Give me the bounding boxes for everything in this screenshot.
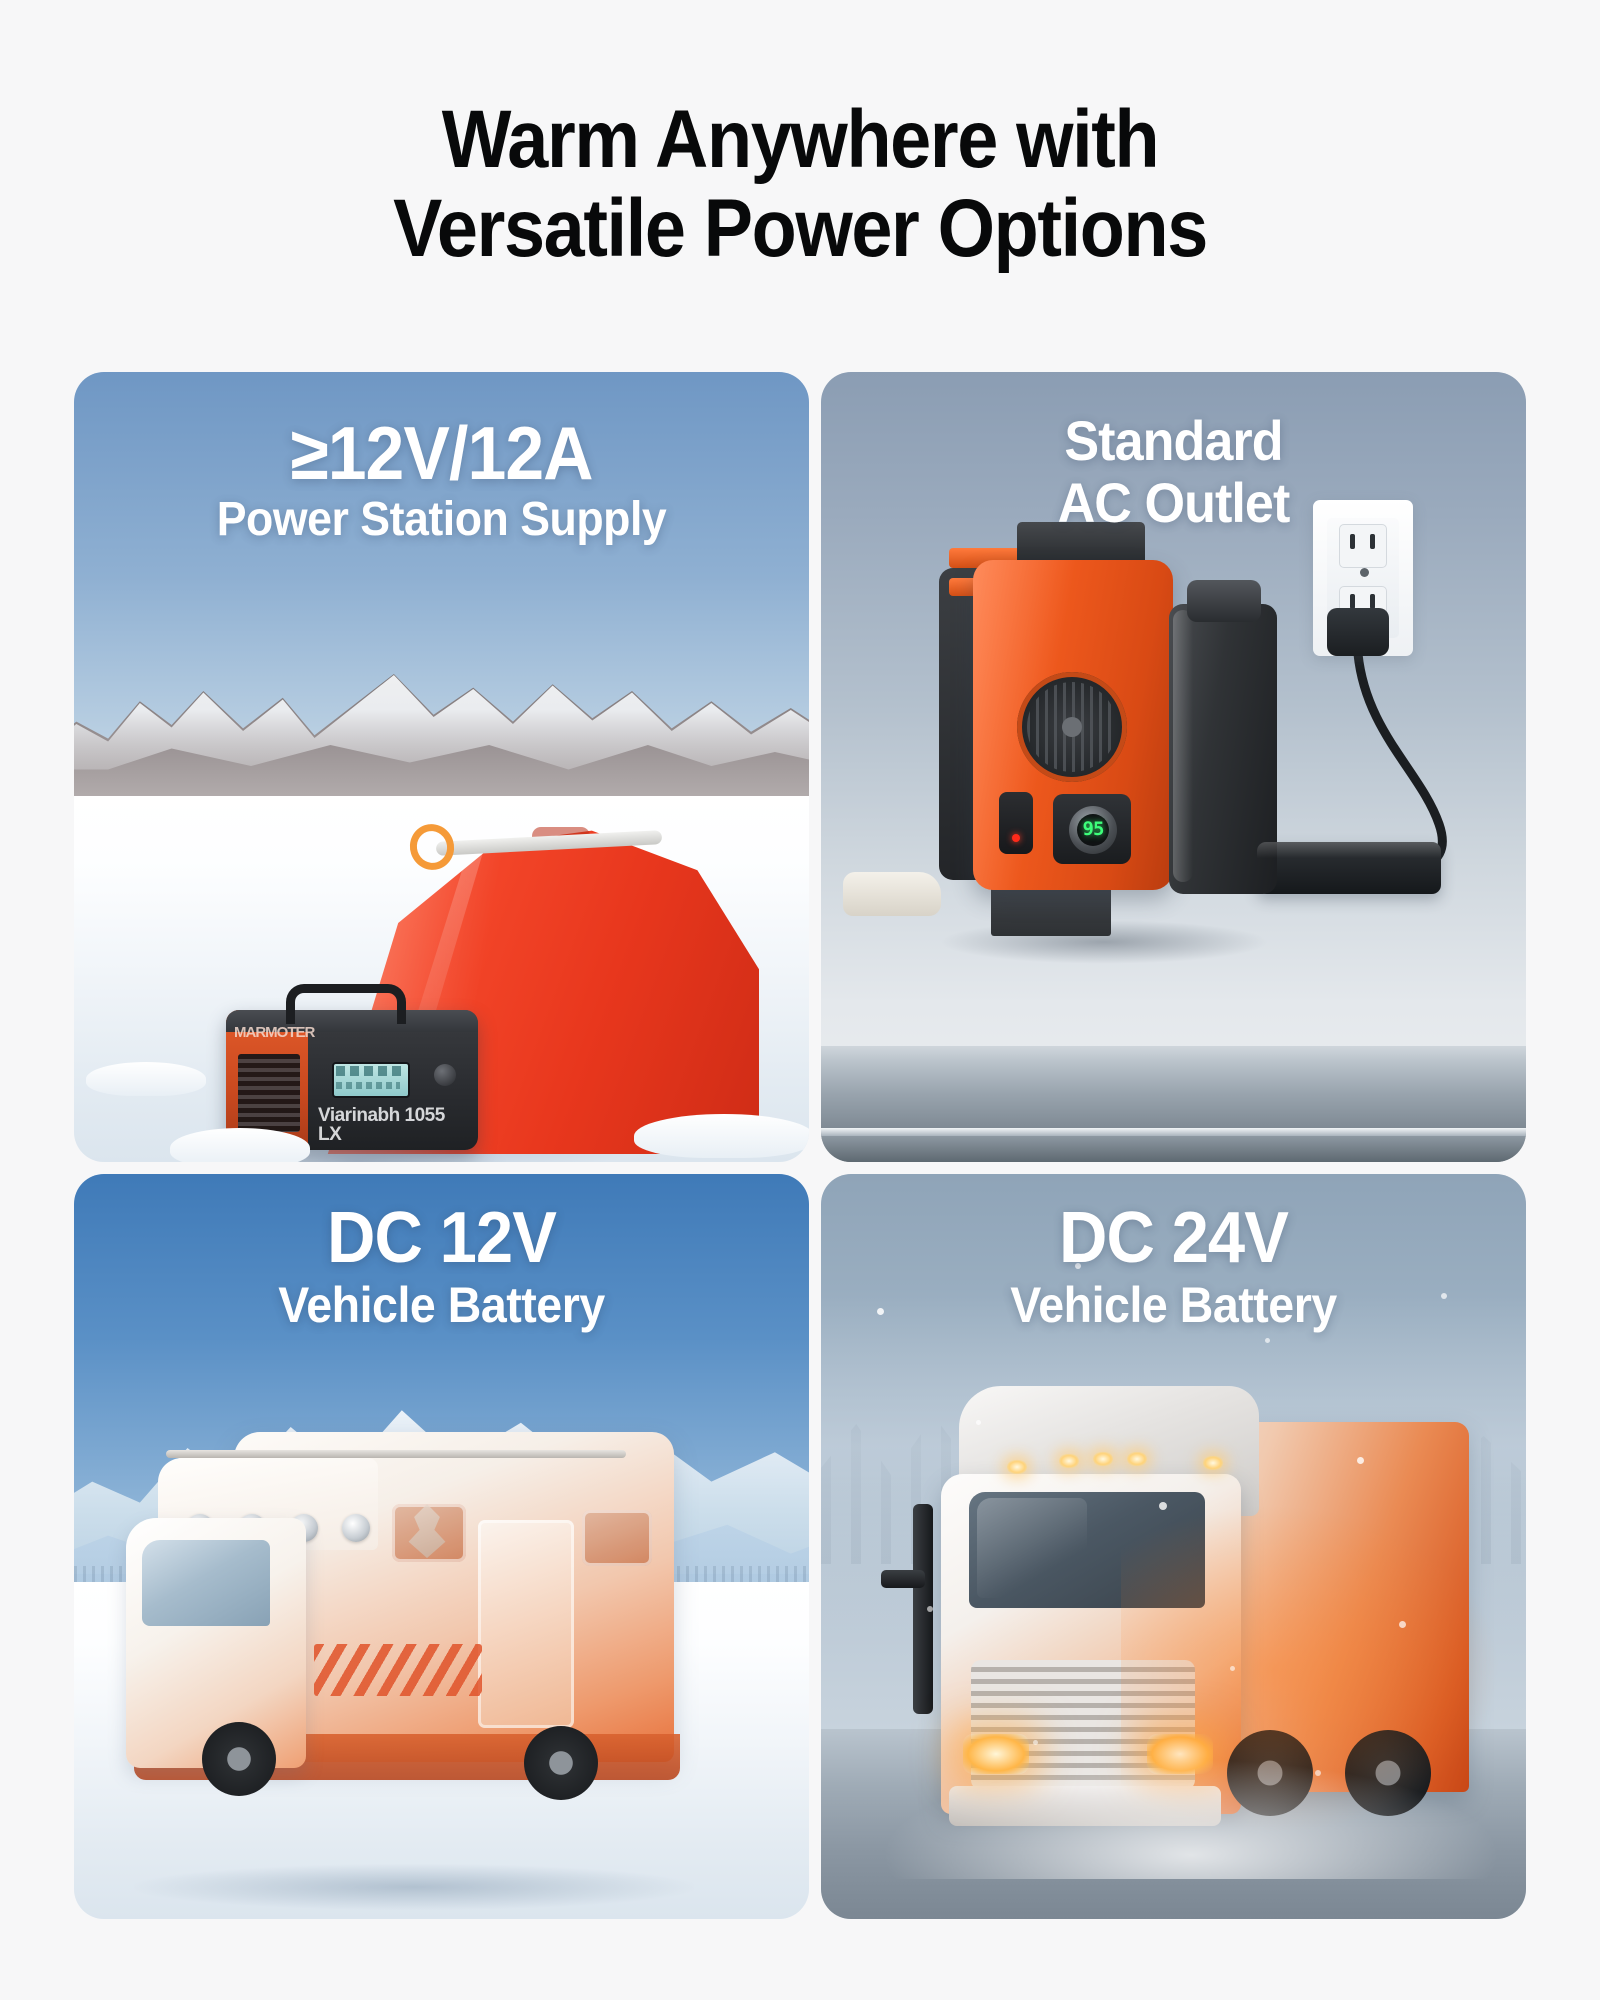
power-station-brand-text: MARMOTER xyxy=(234,1024,312,1041)
power-switch[interactable] xyxy=(999,792,1033,854)
fuel-tank-highlight xyxy=(1173,610,1193,882)
panel-caption: ≥12V/12A Power Station Supply xyxy=(74,414,809,548)
headlight xyxy=(963,1734,1029,1774)
truck-wheel xyxy=(1345,1730,1431,1816)
caption-heading: ≥12V/12A xyxy=(100,414,784,492)
digital-display-value: 95 xyxy=(1077,818,1109,840)
rv-front-wheel xyxy=(202,1722,276,1796)
snow-lump xyxy=(86,1062,206,1096)
panel-ac-outlet[interactable]: 95 Standard AC Outlet xyxy=(821,372,1526,1162)
snow-lump xyxy=(634,1114,809,1158)
rv-rear-wheel xyxy=(524,1726,598,1800)
snow-lump xyxy=(170,1128,310,1162)
power-adapter-highlight xyxy=(1257,842,1441,858)
side-mirror xyxy=(881,1570,925,1588)
exhaust-stack xyxy=(913,1504,933,1714)
truck-bumper xyxy=(949,1786,1221,1826)
power-station-vent xyxy=(238,1054,300,1132)
socket-slot xyxy=(1370,594,1375,609)
lcd-text-row-2 xyxy=(336,1082,400,1089)
caption-heading: DC 12V xyxy=(100,1200,784,1276)
headlight xyxy=(1147,1734,1213,1774)
rv-windshield xyxy=(142,1540,270,1626)
power-plug xyxy=(1327,608,1389,656)
truck-marker-light xyxy=(1203,1456,1223,1470)
cloth-rag xyxy=(843,872,941,916)
infographic-page: Warm Anywhere with Versatile Power Optio… xyxy=(0,0,1600,2000)
outlet-socket-top xyxy=(1339,524,1387,568)
feature-grid: MARMOTER Viarinabh 1055 LX ≥12V/12A Powe… xyxy=(74,372,1526,1918)
rv-roof-lamp xyxy=(342,1514,370,1542)
socket-slot xyxy=(1350,594,1355,609)
fan-hub xyxy=(1062,717,1082,737)
rv-shadow xyxy=(134,1864,694,1910)
outlet-screw xyxy=(1360,568,1369,577)
rv-side-window xyxy=(582,1510,652,1566)
panel-power-station[interactable]: MARMOTER Viarinabh 1055 LX ≥12V/12A Powe… xyxy=(74,372,809,1162)
title-line-2: Versatile Power Options xyxy=(80,185,1520,274)
windshield-highlight xyxy=(977,1498,1087,1598)
truck-marker-light xyxy=(1093,1452,1113,1466)
rv-entry-door xyxy=(478,1520,574,1728)
power-station-handle xyxy=(286,984,406,1024)
socket-slot xyxy=(1350,534,1355,549)
panel-caption: DC 12V Vehicle Battery xyxy=(74,1200,809,1334)
page-title: Warm Anywhere with Versatile Power Optio… xyxy=(0,96,1600,273)
truck-marker-light xyxy=(1059,1454,1079,1468)
caption-heading: DC 24V xyxy=(846,1200,1502,1276)
truck-wheel xyxy=(1227,1730,1313,1816)
power-station-knob xyxy=(434,1064,456,1086)
truck-marker-light xyxy=(1007,1460,1027,1474)
rv-decal-stripe xyxy=(314,1644,482,1696)
panel-dc-24v[interactable]: DC 24V Vehicle Battery xyxy=(821,1174,1526,1919)
lcd-text-row-1 xyxy=(336,1066,406,1076)
panel-dc-12v[interactable]: DC 12V Vehicle Battery xyxy=(74,1174,809,1919)
title-line-1: Warm Anywhere with xyxy=(80,96,1520,185)
caption-subheading: Power Station Supply xyxy=(100,492,784,548)
fuel-tank-cap xyxy=(1187,580,1261,622)
power-station-model-text: Viarinabh 1055 LX xyxy=(318,1106,468,1144)
caption-subheading: Vehicle Battery xyxy=(100,1276,784,1334)
truck-marker-light xyxy=(1127,1452,1147,1466)
power-led-indicator xyxy=(1012,834,1020,842)
socket-slot xyxy=(1370,534,1375,549)
rv-roof-rail xyxy=(166,1450,626,1458)
